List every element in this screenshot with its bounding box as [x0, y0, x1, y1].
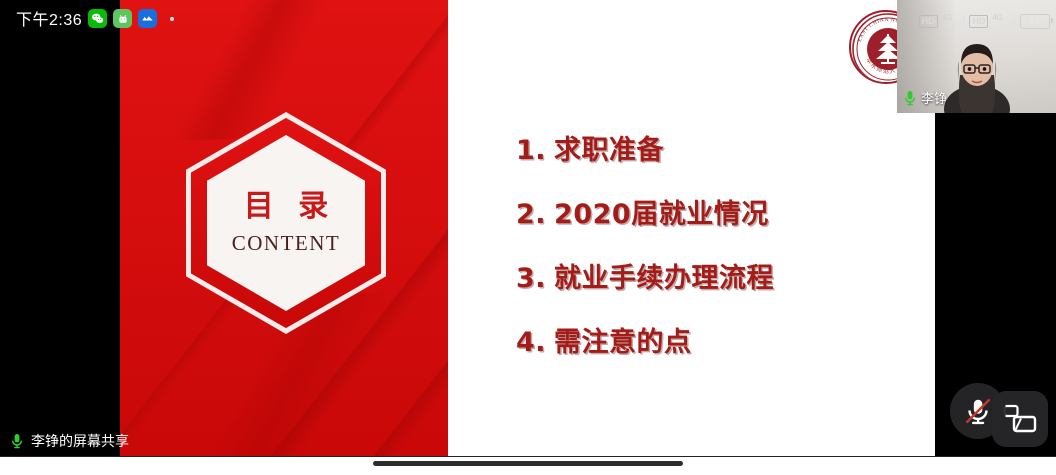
floating-controls [950, 379, 1050, 451]
hexagon-title: 目 录 [237, 190, 335, 223]
list-item-number: 3. [516, 263, 546, 294]
microphone-icon [10, 433, 24, 449]
share-status-group: 李铮的屏幕共享 [0, 431, 129, 451]
slide-red-panel: 目 录 CONTENT [120, 0, 448, 456]
wechat-icon [88, 9, 107, 28]
content-hexagon-badge: 目 录 CONTENT [186, 112, 386, 334]
home-area-divider [0, 456, 1056, 457]
list-item-number: 4. [516, 327, 546, 358]
list-item-label: 2020届就业情况 [554, 192, 769, 231]
phone-screen: 目 录 CONTENT [0, 0, 1056, 475]
list-item-number: 2. [516, 199, 546, 230]
shared-screen-slide: 目 录 CONTENT [120, 0, 935, 456]
list-item-label: 需注意的点 [554, 320, 692, 359]
home-indicator[interactable] [373, 461, 683, 466]
list-item-number: 1. [516, 135, 546, 166]
screen-share-status-bar: 李铮的屏幕共享 [0, 426, 1056, 456]
list-item: 3. 就业手续办理流程 [516, 256, 916, 295]
home-gesture-area[interactable] [0, 456, 1056, 475]
list-item: 2. 2020届就业情况 [516, 192, 916, 231]
hexagon-subtitle: CONTENT [232, 231, 341, 256]
slide-content-list: 1. 求职准备 2. 2020届就业情况 3. 就业手续办理流程 4. 需注意的… [516, 128, 916, 384]
participant-name-overlay: 李铮 [903, 88, 947, 107]
list-item: 1. 求职准备 [516, 128, 916, 167]
participant-name-label: 李铮 [921, 88, 947, 107]
list-item: 4. 需注意的点 [516, 320, 916, 359]
list-item-label: 就业手续办理流程 [554, 256, 774, 295]
mute-microphone-button[interactable] [950, 383, 1006, 439]
slide-white-panel: EAST CHINA NORMAL 华东师范大学 1. 求职准备 2. 2020… [448, 0, 935, 456]
status-clock: 下午2:36 [16, 6, 82, 30]
list-item-label: 求职准备 [554, 128, 664, 167]
share-status-label: 李铮的屏幕共享 [31, 431, 129, 451]
microphone-icon [903, 90, 917, 106]
participant-video-tile[interactable]: 李铮 [897, 0, 1056, 113]
